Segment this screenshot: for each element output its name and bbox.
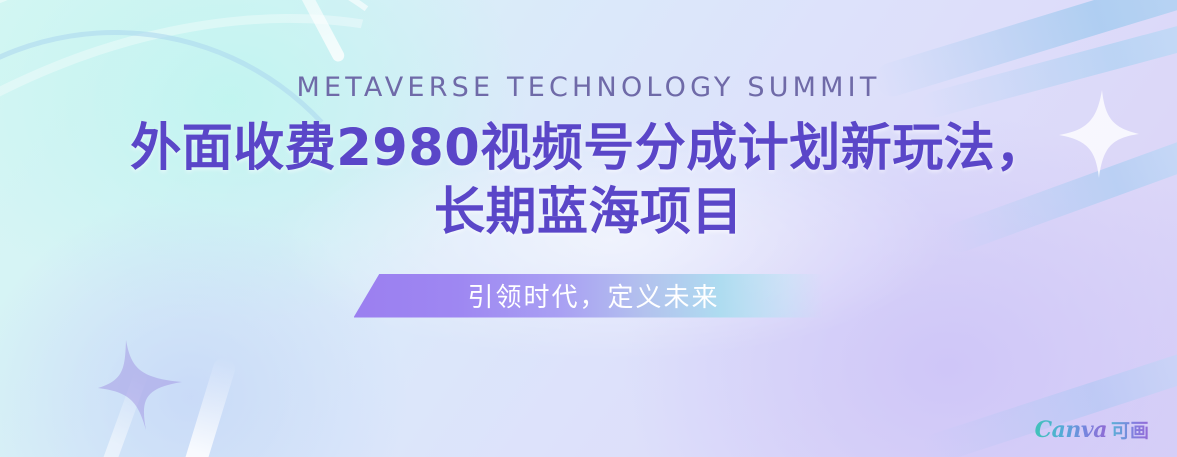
canva-watermark: Canva 可画 (1035, 416, 1149, 443)
eyebrow-text: METAVERSE TECHNOLOGY SUMMIT (296, 74, 880, 101)
banner-content: METAVERSE TECHNOLOGY SUMMIT 外面收费2980视频号分… (0, 0, 1177, 457)
headline-line-2: 长期蓝海项目 (130, 181, 1046, 245)
promo-banner: METAVERSE TECHNOLOGY SUMMIT 外面收费2980视频号分… (0, 0, 1177, 457)
subtitle-text: 引领时代，定义未来 (354, 274, 824, 318)
page-title: 外面收费2980视频号分成计划新玩法， 长期蓝海项目 (130, 117, 1046, 246)
canva-wordmark: Canva (1035, 417, 1107, 443)
subtitle-banner: 引领时代，定义未来 (354, 274, 824, 318)
headline-line-1: 外面收费2980视频号分成计划新玩法， (130, 117, 1046, 181)
canva-wordmark-chinese: 可画 (1111, 416, 1149, 443)
